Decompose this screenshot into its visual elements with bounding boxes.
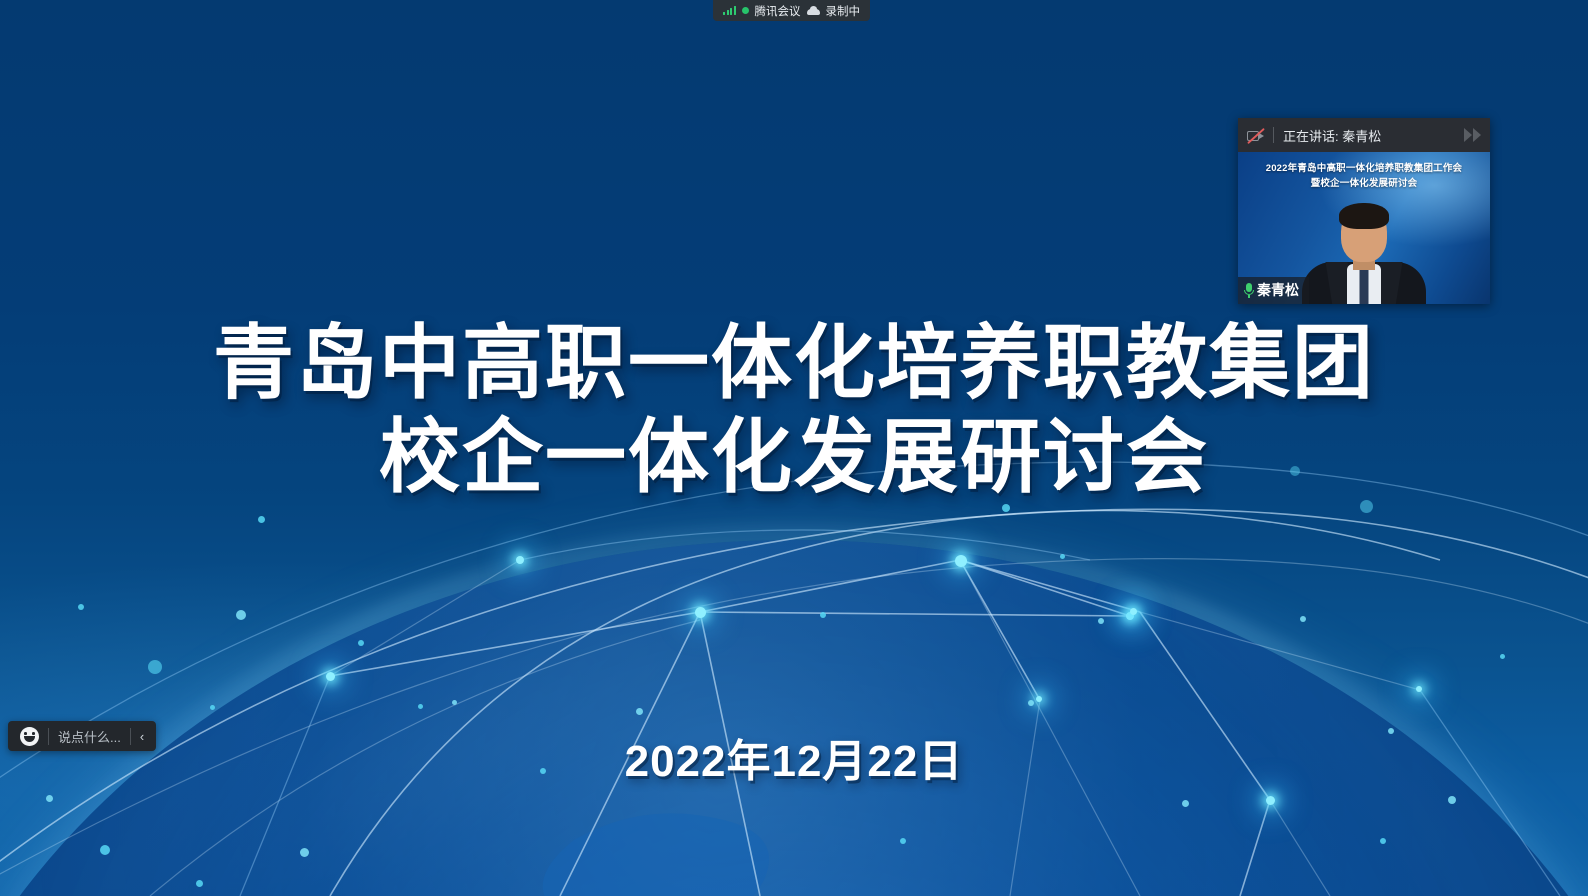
bokeh-dot [820,612,826,618]
bokeh-dot [1098,618,1104,624]
recording-status-bar[interactable]: 腾讯会议 录制中 [713,0,870,21]
divider [1273,127,1274,143]
chat-message-input[interactable]: 说点什么... [49,721,130,751]
bokeh-dot [46,795,53,802]
bokeh-dot [196,880,203,887]
app-name-label: 腾讯会议 [755,3,801,19]
network-node [1130,608,1137,615]
network-node [695,607,706,618]
bokeh-dot [78,604,84,610]
chat-input-bar[interactable]: 说点什么... ‹ [8,721,156,751]
bokeh-dot [210,705,215,710]
network-node [326,672,335,681]
recording-label: 录制中 [826,3,861,19]
network-node [1036,696,1042,702]
network-node [516,556,524,564]
bokeh-dot [1060,554,1065,559]
chat-input-placeholder: 说点什么... [58,727,121,746]
bokeh-dot [1500,654,1505,659]
bokeh-dot [1448,796,1456,804]
green-status-dot-icon [742,7,749,14]
chevron-left-icon: ‹ [140,730,144,743]
video-backdrop-text: 2022年青岛中高职一体化培养职教集团工作会 暨校企一体化发展研讨会 [1238,162,1490,191]
microphone-on-icon [1244,283,1254,298]
bokeh-dot [1028,700,1034,706]
collapse-chat-button[interactable]: ‹ [131,721,153,751]
bokeh-dot [258,516,265,523]
video-backdrop-line-1: 2022年青岛中高职一体化培养职教集团工作会 [1238,162,1490,177]
chevron-right-icon[interactable] [1464,128,1481,142]
slide-date: 2022年12月22日 [0,725,1588,789]
slide-title-line-1: 青岛中高职一体化培养职教集团 [0,318,1588,412]
slide-title-line-2: 校企一体化发展研讨会 [0,412,1588,506]
speaker-silhouette [1301,206,1427,304]
bokeh-dot [1300,616,1306,622]
video-backdrop-line-2: 暨校企一体化发展研讨会 [1238,177,1490,192]
smiley-face-icon [20,727,39,746]
network-node [955,555,967,567]
bokeh-dot [148,660,162,674]
bokeh-dot [236,610,246,620]
bokeh-dot [1182,800,1189,807]
bokeh-dot [358,640,364,646]
emoji-picker-button[interactable] [11,721,48,751]
camera-off-icon[interactable] [1247,129,1264,142]
network-node [1266,796,1275,805]
bokeh-dot [100,845,110,855]
bokeh-dot [452,700,457,705]
bokeh-dot [1380,838,1386,844]
network-node [1416,686,1422,692]
bokeh-dot [300,848,309,857]
participant-name-label: 秦青松 [1257,280,1299,300]
signal-bars-icon [723,6,736,15]
slide-title-block: 青岛中高职一体化培养职教集团 校企一体化发展研讨会 [0,318,1588,506]
speaker-video-feed[interactable]: 2022年青岛中高职一体化培养职教集团工作会 暨校企一体化发展研讨会 秦青松 [1238,152,1490,304]
participant-name-badge: 秦青松 [1238,277,1309,304]
bokeh-dot [900,838,906,844]
meeting-screen: 青岛中高职一体化培养职教集团 校企一体化发展研讨会 2022年12月22日 腾讯… [0,0,1588,896]
bokeh-dot [636,708,643,715]
active-speaker-label: 正在讲话: 秦青松 [1283,126,1455,145]
speaker-thumbnail[interactable]: 正在讲话: 秦青松 2022年青岛中高职一体化培养职教集团工作会 暨校企一体化发… [1238,118,1490,304]
cloud-recording-icon [807,6,820,15]
speaker-thumbnail-header[interactable]: 正在讲话: 秦青松 [1238,118,1490,152]
bokeh-dot [418,704,423,709]
